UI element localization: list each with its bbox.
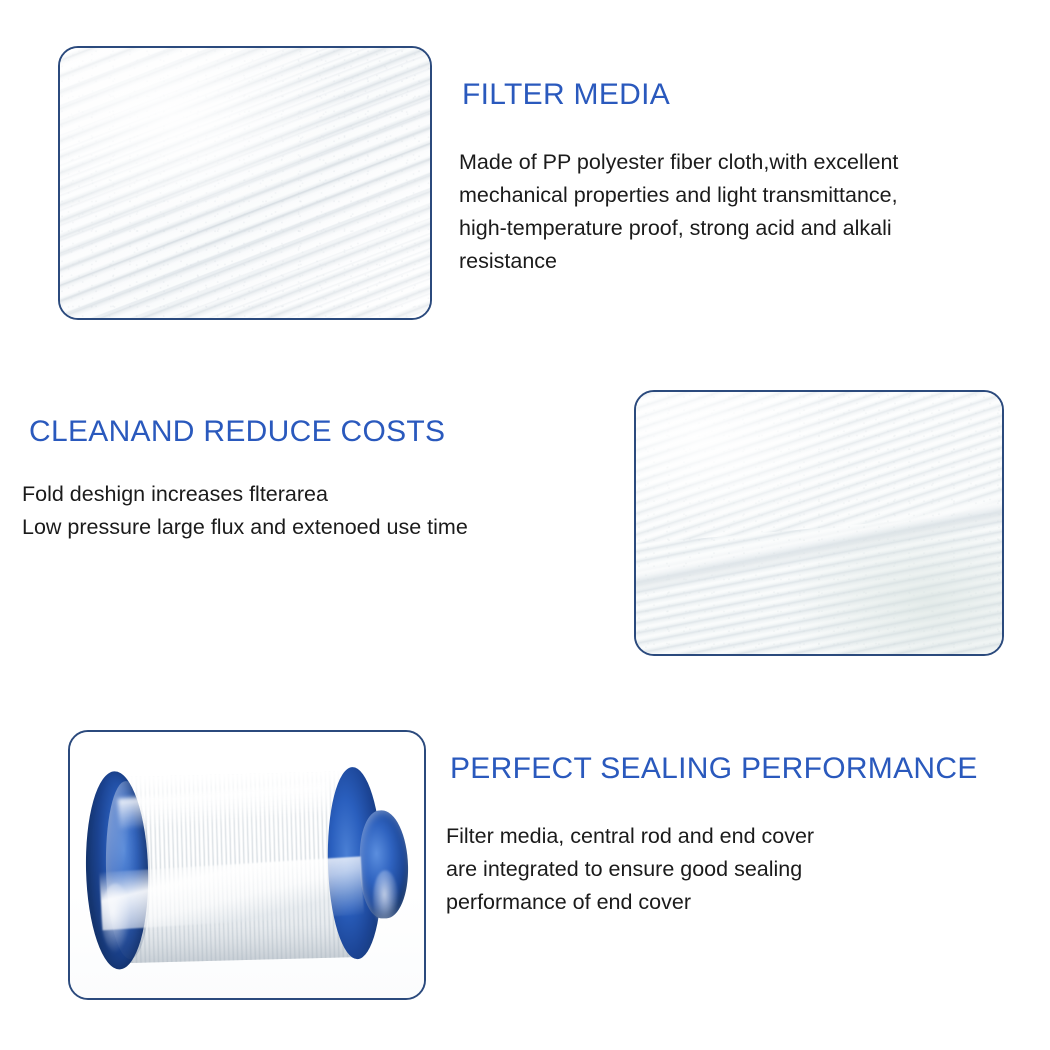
section-heading-filter-media: FILTER MEDIA — [462, 78, 670, 112]
cartridge-image — [70, 732, 424, 998]
section-heading-clean-reduce-costs: CLEANAND REDUCE COSTS — [29, 415, 445, 449]
fabric-tint-overlay — [636, 392, 1002, 654]
plastic-wrap-bulge — [359, 810, 410, 919]
body-line: performance of end cover — [446, 886, 966, 919]
body-line: Filter media, central rod and end cover — [446, 820, 966, 853]
body-line: Low pressure large flux and extenoed use… — [22, 511, 612, 544]
section-body-clean-reduce-costs: Fold deshign increases flterarea Low pre… — [22, 478, 612, 544]
body-line: mechanical properties and light transmit… — [459, 179, 1039, 212]
body-line: resistance — [459, 245, 1039, 278]
body-line: Made of PP polyester fiber cloth,with ex… — [459, 146, 1039, 179]
infographic-page: FILTER MEDIA Made of PP polyester fiber … — [0, 0, 1050, 1050]
body-line: are integrated to ensure good sealing — [446, 853, 966, 886]
end-cap-right-gloss — [372, 870, 400, 931]
section-body-perfect-sealing-performance: Filter media, central rod and end cover … — [446, 820, 966, 919]
filter-media-photo-panel — [58, 46, 432, 320]
body-line: Fold deshign increases flterarea — [22, 478, 612, 511]
filter-cartridge — [77, 764, 412, 971]
body-line: high-temperature proof, strong acid and … — [459, 212, 1039, 245]
section-body-filter-media: Made of PP polyester fiber cloth,with ex… — [459, 146, 1039, 278]
filter-media-image — [60, 48, 430, 318]
fold-fabric-image — [636, 392, 1002, 654]
fold-fabric-photo-panel — [634, 390, 1004, 656]
fabric-sheen-overlay — [60, 48, 430, 318]
cartridge-photo-panel — [68, 730, 426, 1000]
section-heading-perfect-sealing-performance: PERFECT SEALING PERFORMANCE — [450, 752, 978, 786]
